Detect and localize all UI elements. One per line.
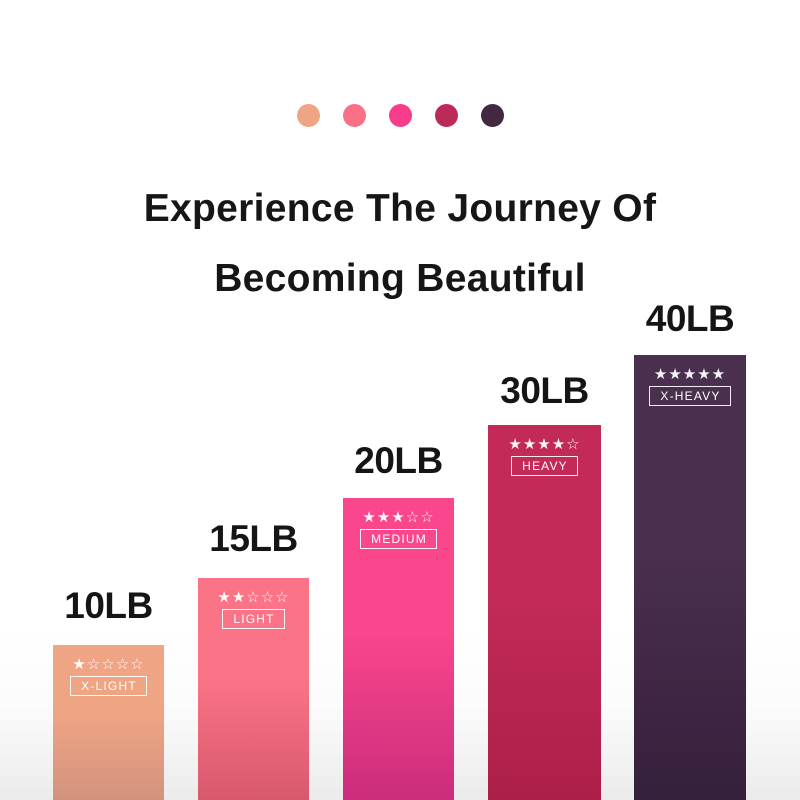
tier-label: X-LIGHT <box>70 676 147 696</box>
bar-group-x-heavy[interactable]: 40LB★★★★★X-HEAVY <box>634 298 746 800</box>
bar-value-label: 40LB <box>646 298 734 340</box>
bar-column[interactable]: ★★★★☆HEAVY <box>488 425 601 800</box>
bar-value-label: 30LB <box>500 370 588 412</box>
star-rating-icon: ★★★★☆ <box>508 437 580 452</box>
bar-value-label: 15LB <box>209 518 297 560</box>
star-rating-icon: ★☆☆☆☆ <box>72 657 144 672</box>
bar-badge: ★☆☆☆☆X-LIGHT <box>53 657 164 696</box>
star-rating-icon: ★★★★★ <box>654 367 726 382</box>
resistance-band-bar-chart: 10LB★☆☆☆☆X-LIGHT15LB★★☆☆☆LIGHT20LB★★★☆☆M… <box>0 0 800 800</box>
bar-group-heavy[interactable]: 30LB★★★★☆HEAVY <box>488 370 601 800</box>
bar-column[interactable]: ★☆☆☆☆X-LIGHT <box>53 645 164 800</box>
tier-label: HEAVY <box>511 456 578 476</box>
tier-label: X-HEAVY <box>649 386 730 406</box>
bar-group-light[interactable]: 15LB★★☆☆☆LIGHT <box>198 518 309 800</box>
tier-label: LIGHT <box>222 609 284 629</box>
bar-group-x-light[interactable]: 10LB★☆☆☆☆X-LIGHT <box>53 585 164 800</box>
bar-value-label: 10LB <box>64 585 152 627</box>
tier-label: MEDIUM <box>360 529 437 549</box>
bar-badge: ★★★★★X-HEAVY <box>634 367 746 406</box>
bar-column[interactable]: ★★☆☆☆LIGHT <box>198 578 309 800</box>
star-rating-icon: ★★★☆☆ <box>362 510 434 525</box>
bar-column[interactable]: ★★★☆☆MEDIUM <box>343 498 454 800</box>
bar-badge: ★★★★☆HEAVY <box>488 437 601 476</box>
bar-column[interactable]: ★★★★★X-HEAVY <box>634 355 746 800</box>
bar-badge: ★★☆☆☆LIGHT <box>198 590 309 629</box>
bar-group-medium[interactable]: 20LB★★★☆☆MEDIUM <box>343 440 454 800</box>
star-rating-icon: ★★☆☆☆ <box>217 590 289 605</box>
bar-badge: ★★★☆☆MEDIUM <box>343 510 454 549</box>
bar-value-label: 20LB <box>354 440 442 482</box>
infographic-canvas: Experience The Journey Of Becoming Beaut… <box>0 0 800 800</box>
